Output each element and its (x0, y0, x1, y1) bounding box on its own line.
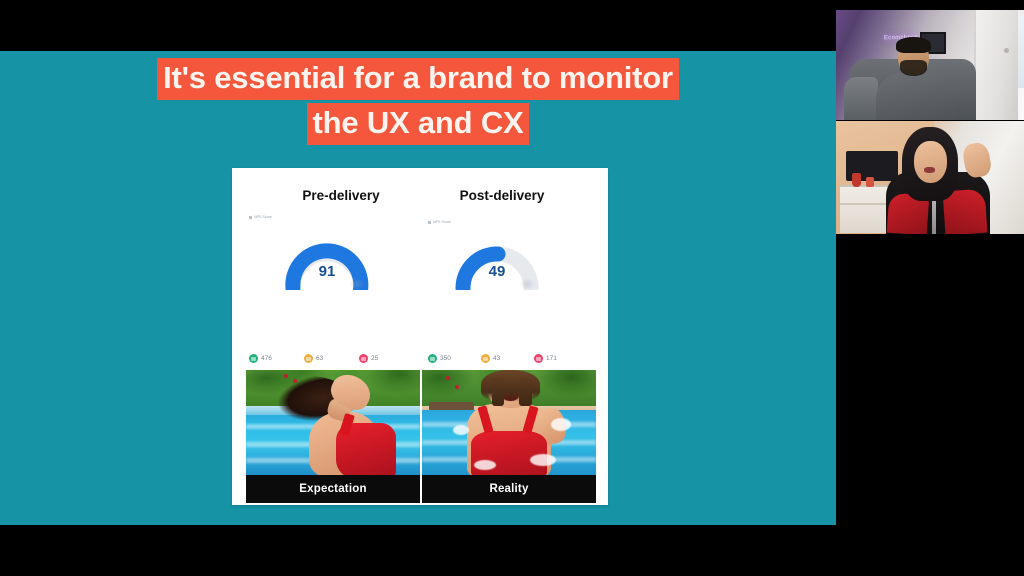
participant-1-beard (900, 60, 927, 76)
title-line-2: the UX and CX (0, 100, 836, 145)
video-call-stage: It's essential for a brand to monitor th… (0, 0, 1024, 576)
promoters-dot-icon (249, 354, 258, 363)
widget-marker-icon (428, 221, 431, 224)
nps-score-label-post: NPS Score (428, 220, 451, 224)
nps-score-label-pre: NPS Score (249, 215, 272, 219)
participant-1-body (876, 73, 956, 121)
legend-item: 350 (428, 354, 481, 363)
detractors-dot-icon (534, 354, 543, 363)
nps-gauge-pre-delivery: 91 (284, 232, 370, 290)
gauge-value-pre: 91 (284, 263, 370, 280)
legend-item: 476 (249, 354, 304, 363)
promoters-dot-icon (428, 354, 437, 363)
photo-expectation (246, 370, 420, 475)
participant-tile-1[interactable]: Ecomchose (836, 10, 1024, 121)
legend-value: 25 (371, 355, 378, 362)
vase-secondary (866, 177, 874, 187)
door (974, 10, 1018, 121)
nps-score-label-text-pre: NPS Score (254, 215, 272, 219)
column-heading-post-delivery: Post-delivery (427, 188, 577, 203)
legend-item: 171 (534, 354, 587, 363)
title-line-2-text: the UX and CX (307, 103, 530, 145)
column-heading-pre-delivery: Pre-delivery (266, 188, 416, 203)
participant-2-mouth (924, 167, 935, 173)
legend-item: 63 (304, 354, 359, 363)
passives-dot-icon (481, 354, 490, 363)
title-line-1: It's essential for a brand to monitor (0, 58, 836, 100)
legend-value: 350 (440, 355, 451, 362)
photo-caption-expectation: Expectation (246, 475, 420, 503)
photo-reality (422, 370, 596, 475)
widget-marker-icon (249, 216, 252, 219)
passives-dot-icon (304, 354, 313, 363)
vase (852, 173, 861, 187)
screen-share-region: It's essential for a brand to monitor th… (0, 0, 836, 576)
photo-panel-expectation: Expectation (246, 370, 420, 503)
dashboard-card: Pre-delivery Post-delivery NPS Score NPS… (232, 168, 608, 505)
title-line-1-text: It's essential for a brand to monitor (157, 58, 679, 100)
legend-value: 63 (316, 355, 323, 362)
participant-tile-2[interactable] (836, 121, 1024, 234)
gauge-value-post: 49 (454, 263, 540, 280)
nps-gauge-post-delivery: 49 (454, 232, 540, 290)
participant-video-column: Ecomchose (836, 0, 1024, 576)
nps-legend-pre-delivery: 476 63 25 (249, 354, 414, 363)
legend-value: 43 (493, 355, 500, 362)
slide-title: It's essential for a brand to monitor th… (0, 58, 836, 145)
participant-1-hair (896, 37, 931, 53)
office-chair-wing (844, 77, 878, 121)
room-background: Ecomchose (836, 10, 1024, 121)
detractors-dot-icon (359, 354, 368, 363)
room-background (836, 121, 1024, 234)
photo-caption-reality: Reality (422, 475, 596, 503)
nps-legend-post-delivery: 350 43 171 (428, 354, 588, 363)
legend-item: 25 (359, 354, 414, 363)
nps-score-label-text-post: NPS Score (433, 220, 451, 224)
photo-panel-reality: Reality (422, 370, 596, 503)
legend-value: 171 (546, 355, 557, 362)
participant-2-face (914, 141, 947, 183)
presentation-slide: It's essential for a brand to monitor th… (0, 51, 836, 525)
pool-scene-illustration (246, 370, 420, 475)
legend-item: 43 (481, 354, 534, 363)
legend-value: 476 (261, 355, 272, 362)
pool-scene-illustration (422, 370, 596, 475)
